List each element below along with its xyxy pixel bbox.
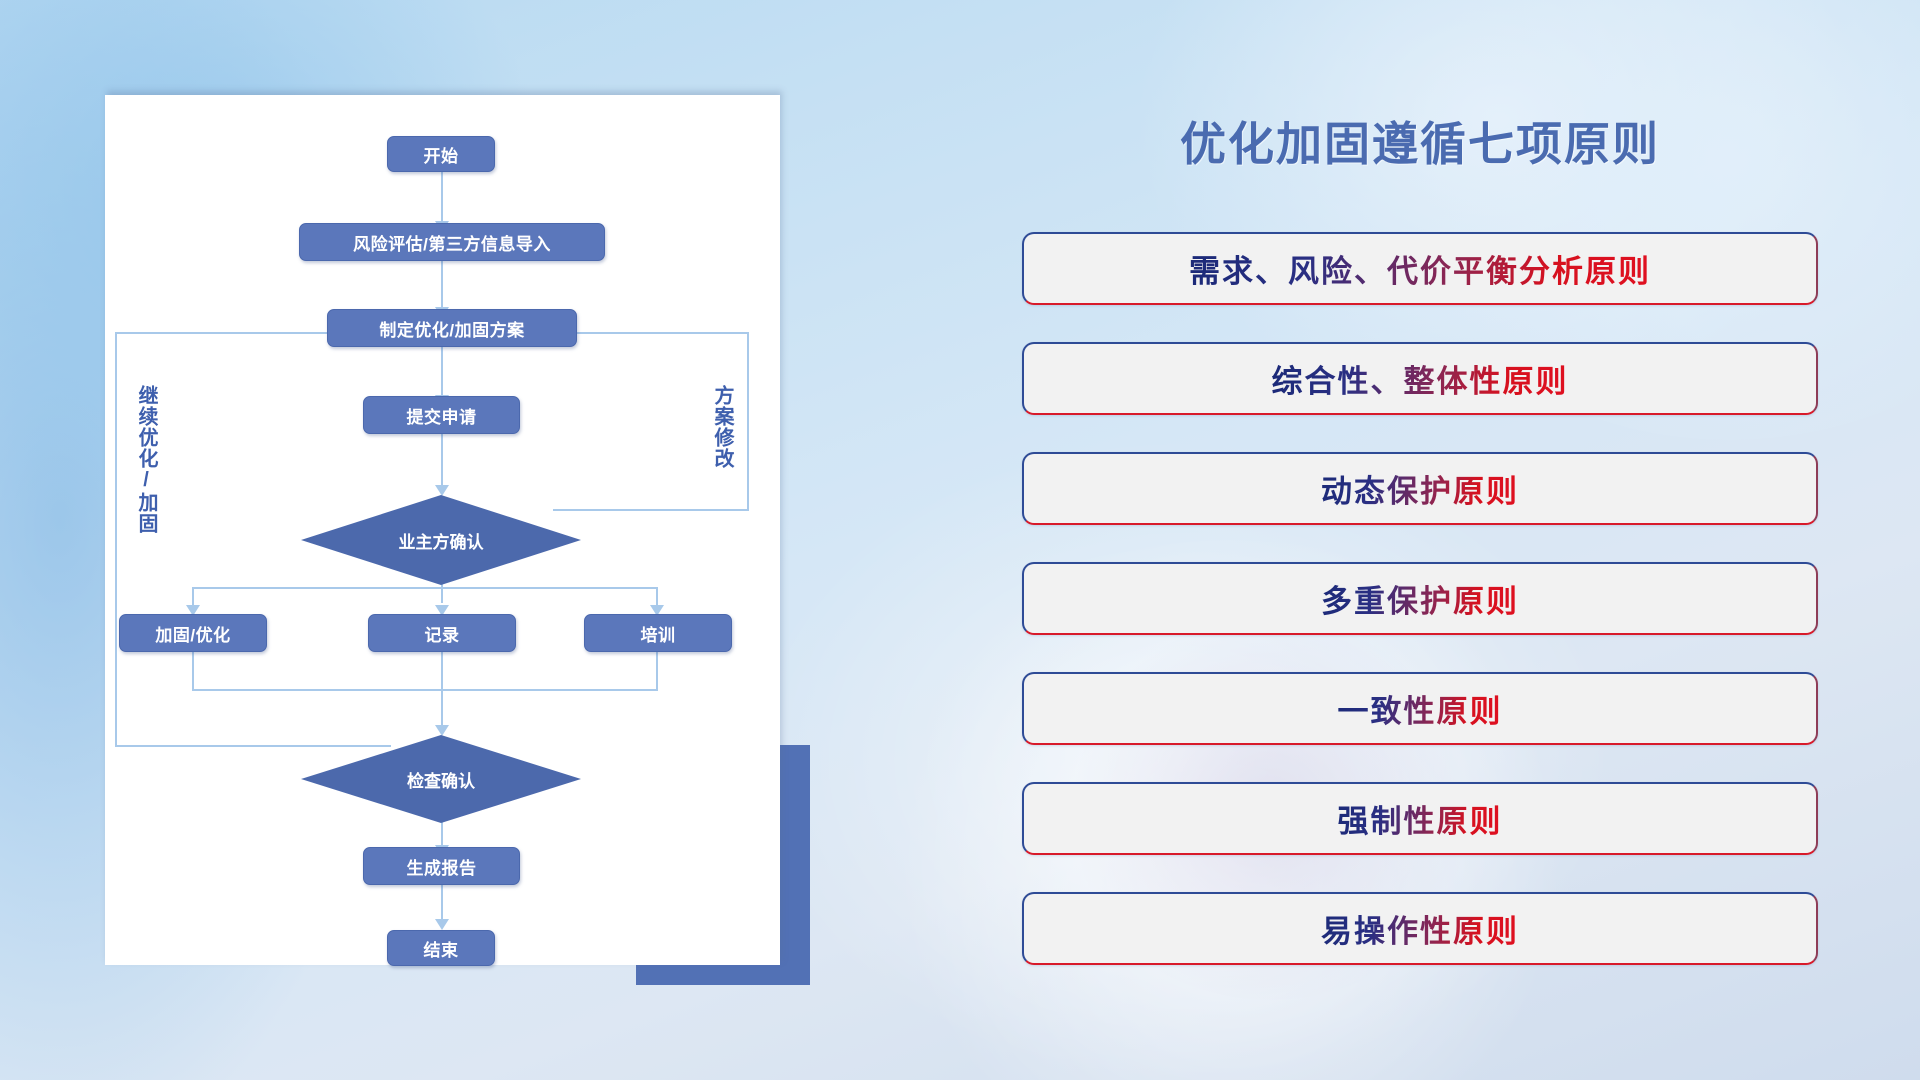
principle-label: 多重保护原则 (1321, 576, 1519, 621)
connector-branch-bus (192, 587, 658, 589)
page-title: 优化加固遵循七项原则 (1020, 108, 1820, 174)
principle-item[interactable]: 多重保护原则 (1022, 562, 1818, 635)
principle-label: 易操作性原则 (1321, 906, 1519, 951)
principle-item[interactable]: 强制性原则 (1022, 782, 1818, 855)
flow-node-generate-report[interactable]: 生成报告 (363, 847, 520, 885)
connector-training-down (656, 651, 658, 691)
flowchart-card: 开始 风险评估/第三方信息导入 制定优化/加固方案 提交申请 业主方确认 加固/… (105, 95, 780, 965)
flow-node-training[interactable]: 培训 (584, 614, 732, 652)
principle-item[interactable]: 需求、风险、代价平衡分析原则 (1022, 232, 1818, 305)
connector-submit-to-owner (441, 433, 443, 493)
edge-label-continue-optimize: 继续优化/加固 (135, 385, 156, 534)
principle-label: 需求、风险、代价平衡分析原则 (1189, 246, 1651, 291)
flow-node-record[interactable]: 记录 (368, 614, 516, 652)
connector-merge-bus (192, 689, 658, 691)
principle-item[interactable]: 动态保护原则 (1022, 452, 1818, 525)
flow-node-plan[interactable]: 制定优化/加固方案 (327, 309, 577, 347)
arrowhead-report-to-end (435, 919, 449, 930)
flow-node-risk-assessment[interactable]: 风险评估/第三方信息导入 (299, 223, 605, 261)
connector-right-loop-bottom (553, 509, 749, 511)
connector-left-loop-vertical (115, 332, 117, 747)
principle-label: 强制性原则 (1338, 796, 1503, 841)
connector-record-to-check (441, 651, 443, 733)
flowchart-diagram: 开始 风险评估/第三方信息导入 制定优化/加固方案 提交申请 业主方确认 加固/… (105, 95, 780, 965)
flow-node-owner-confirm-label: 业主方确认 (399, 528, 484, 553)
principle-item[interactable]: 易操作性原则 (1022, 892, 1818, 965)
principle-item[interactable]: 一致性原则 (1022, 672, 1818, 745)
principle-label: 综合性、整体性原则 (1272, 356, 1569, 401)
principle-item[interactable]: 综合性、整体性原则 (1022, 342, 1818, 415)
connector-right-loop-vertical (747, 332, 749, 510)
slide-canvas: 开始 风险评估/第三方信息导入 制定优化/加固方案 提交申请 业主方确认 加固/… (0, 0, 1920, 1080)
flow-node-check-confirm[interactable]: 检查确认 (301, 735, 581, 823)
flow-node-start[interactable]: 开始 (387, 136, 495, 172)
edge-label-plan-revision: 方案修改 (711, 385, 732, 469)
connector-left-loop-top (115, 332, 330, 334)
connector-reinforce-down (192, 651, 194, 691)
connector-right-loop-top (553, 332, 749, 334)
principle-label: 一致性原则 (1338, 686, 1503, 731)
principle-label: 动态保护原则 (1321, 466, 1519, 511)
flow-node-check-confirm-label: 检查确认 (407, 767, 475, 792)
flow-node-owner-confirm[interactable]: 业主方确认 (301, 495, 581, 585)
principle-list: 需求、风险、代价平衡分析原则 综合性、整体性原则 动态保护原则 多重保护原则 一… (1022, 232, 1818, 1002)
flow-node-end[interactable]: 结束 (387, 930, 495, 966)
flow-node-reinforce[interactable]: 加固/优化 (119, 614, 267, 652)
flow-node-submit[interactable]: 提交申请 (363, 396, 520, 434)
